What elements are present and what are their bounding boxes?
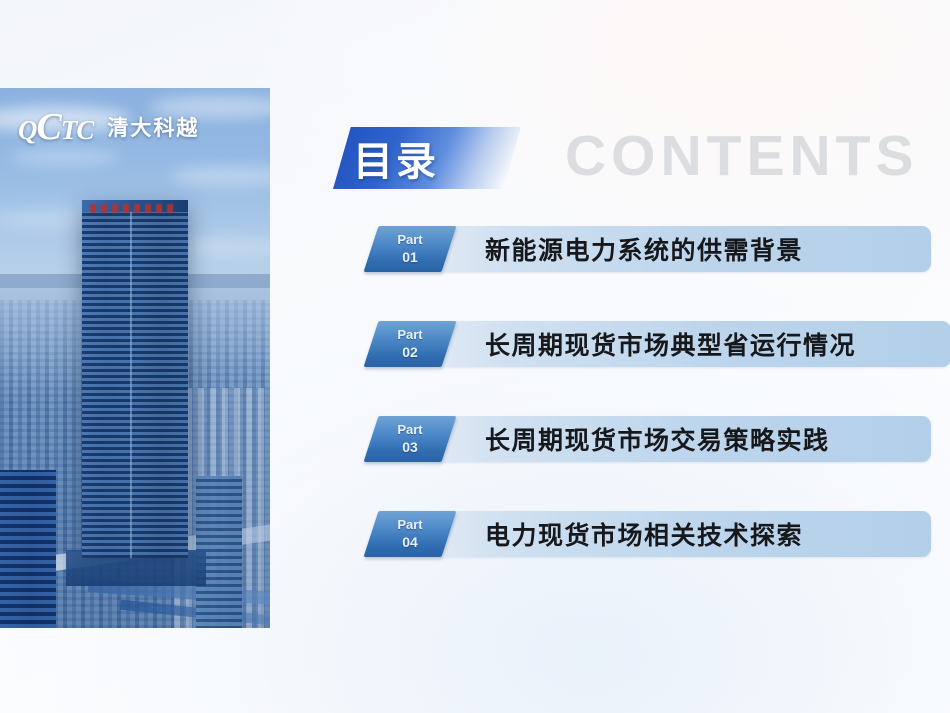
- title-en: CONTENTS: [565, 125, 919, 187]
- table-of-contents: Part 01 新能源电力系统的供需背景 Part 02 长周期现货市场典型省运…: [371, 226, 950, 557]
- main-skyscraper: [82, 208, 188, 558]
- part-badge-02[interactable]: Part 02: [371, 321, 449, 367]
- page-title: 目录 CONTENTS: [333, 127, 873, 189]
- slide-canvas: QCTC 清大科越 目录 CONTENTS Part 01 新能源电力系统的供需…: [0, 0, 950, 713]
- cloud-shape: [10, 148, 120, 166]
- logo-letter-q: Q: [18, 115, 37, 145]
- toc-title-2: 长周期现货市场典型省运行情况: [485, 326, 856, 362]
- cityscape-photo: QCTC 清大科越: [0, 88, 270, 628]
- toc-title-3: 长周期现货市场交易策略实践: [485, 421, 830, 457]
- toc-bar-2[interactable]: 长周期现货市场典型省运行情况: [439, 321, 950, 367]
- title-cn: 目录: [353, 127, 513, 189]
- part-badge-03[interactable]: Part 03: [371, 416, 449, 462]
- toc-bar-1[interactable]: 新能源电力系统的供需背景: [439, 226, 931, 272]
- toc-bar-3[interactable]: 长周期现货市场交易策略实践: [439, 416, 931, 462]
- part-number: 02: [402, 343, 418, 361]
- part-label: Part: [397, 326, 422, 343]
- part-number: 01: [402, 248, 418, 266]
- part-badge-01[interactable]: Part 01: [371, 226, 449, 272]
- part-number: 03: [402, 438, 418, 456]
- toc-bar-4[interactable]: 电力现货市场相关技术探索: [439, 511, 931, 557]
- part-badge-text: Part 01: [371, 226, 449, 272]
- toc-title-4: 电力现货市场相关技术探索: [485, 516, 803, 552]
- toc-title-1: 新能源电力系统的供需背景: [485, 231, 803, 267]
- toc-item-2[interactable]: Part 02 长周期现货市场典型省运行情况: [371, 321, 950, 367]
- logo-letter-t: T: [61, 115, 77, 145]
- tower-rooftop-sign: [90, 204, 178, 213]
- foreground-glass-tower: [0, 470, 56, 628]
- part-badge-text: Part 03: [371, 416, 449, 462]
- part-badge-text: Part 02: [371, 321, 449, 367]
- toc-item-3[interactable]: Part 03 长周期现货市场交易策略实践: [371, 416, 950, 462]
- company-logo: QCTC 清大科越: [18, 108, 199, 146]
- tower-corner-edge: [130, 208, 132, 558]
- logo-company-name: 清大科越: [107, 112, 199, 142]
- toc-item-1[interactable]: Part 01 新能源电力系统的供需背景: [371, 226, 950, 272]
- logo-letter-c2: C: [76, 115, 93, 145]
- part-label: Part: [397, 516, 422, 533]
- part-number: 04: [402, 533, 418, 551]
- part-badge-04[interactable]: Part 04: [371, 511, 449, 557]
- part-label: Part: [397, 231, 422, 248]
- logo-mark-icon: QCTC: [18, 108, 93, 146]
- toc-item-4[interactable]: Part 04 电力现货市场相关技术探索: [371, 511, 950, 557]
- logo-letter-c: C: [37, 106, 61, 148]
- part-label: Part: [397, 421, 422, 438]
- part-badge-text: Part 04: [371, 511, 449, 557]
